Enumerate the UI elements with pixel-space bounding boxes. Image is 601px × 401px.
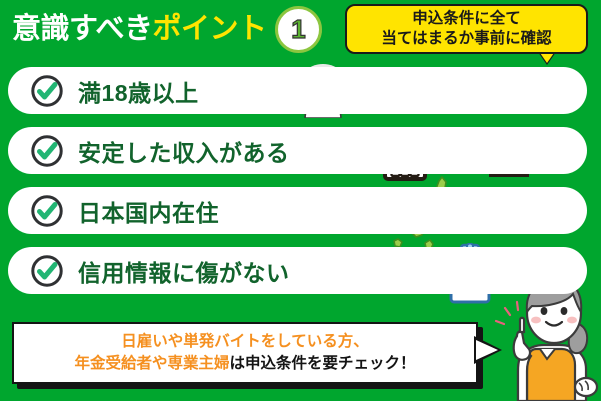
page-title: 意識すべきポイント <box>12 6 267 52</box>
checklist-row-label: 信用情報に傷がない <box>78 254 290 288</box>
check-circle-icon <box>30 254 64 288</box>
checklist-row[interactable]: 満18歳以上 <box>8 67 587 114</box>
bottom-banner: 日雇いや単発バイトをしている方、 年金受給者や専業主婦は申込条件を要チェック！ <box>12 322 478 384</box>
callout-text: 申込条件に全て 当てはまるか事前に確認 <box>381 9 551 49</box>
checklist-row-label: 安定した収入がある <box>78 134 290 168</box>
bottom-banner-text: 日雇いや単発バイトをしている方、 年金受給者や専業主婦は申込条件を要チェック！ <box>74 331 415 375</box>
banner-tail-icon <box>476 340 498 360</box>
banner-line2-highlight: 年金受給者や専業主婦 <box>74 355 229 372</box>
check-circle-icon <box>30 74 64 108</box>
checklist-row[interactable]: 日本国内在住 <box>8 187 587 234</box>
point-number-badge: 1 <box>275 6 322 53</box>
header: 意識すべきポイント 1 申込条件に全て 当てはまるか事前に確認 <box>0 0 601 58</box>
page-title-part-yellow: ポイント <box>152 13 266 45</box>
callout-box: 申込条件に全て 当てはまるか事前に確認 <box>345 4 588 54</box>
banner-line1-highlight: 日雇いや単発バイトをしている方、 <box>121 333 369 350</box>
page-title-part-white: 意識すべき <box>12 13 152 45</box>
check-circle-icon <box>30 134 64 168</box>
check-circle-icon <box>30 194 64 228</box>
checklist-row-label: 日本国内在住 <box>78 194 219 228</box>
checklist-row[interactable]: 安定した収入がある <box>8 127 587 174</box>
point-number-badge-label: 1 <box>278 9 319 50</box>
checklist-row[interactable]: 信用情報に傷がない <box>8 247 587 294</box>
checklist-row-label: 満18歳以上 <box>78 74 199 108</box>
banner-line2-rest: は申込条件を要チェック！ <box>230 355 416 372</box>
infographic-canvas: 意識すべきポイント 1 申込条件に全て 当てはまるか事前に確認 <box>0 0 601 401</box>
